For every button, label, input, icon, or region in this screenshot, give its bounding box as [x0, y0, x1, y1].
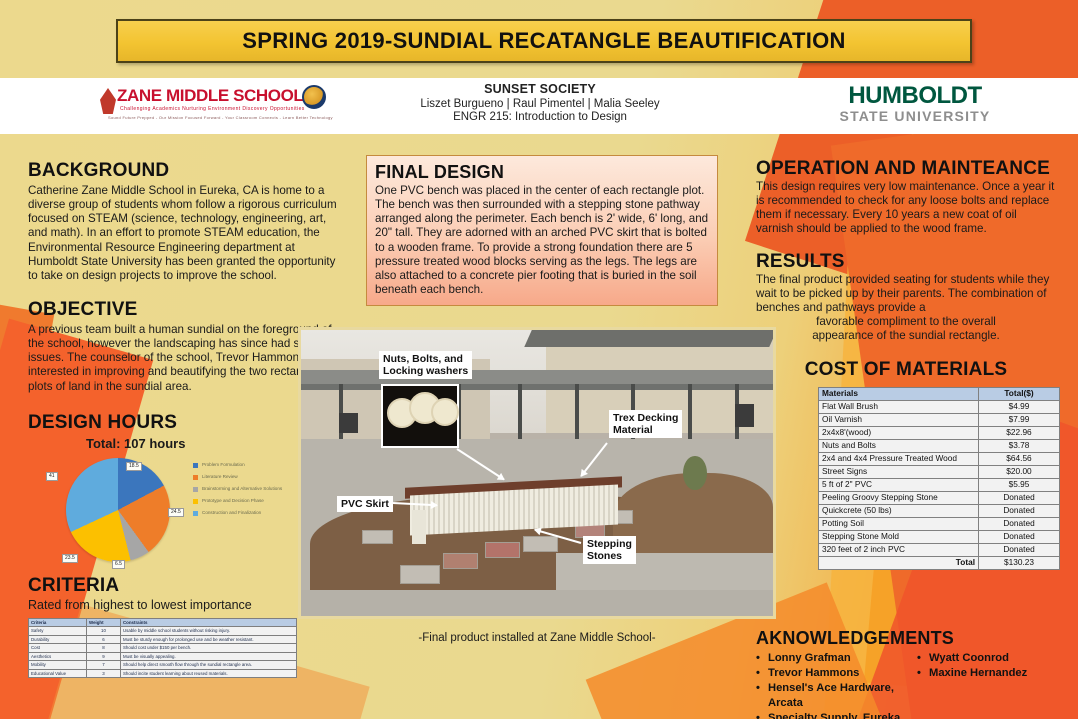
photo-trash-can-left	[339, 413, 358, 433]
table-total-row: Total$130.23	[819, 556, 1060, 569]
acknowledgements-column-1: •Lonny Grafman•Trevor Hammons•Hensel's A…	[756, 651, 917, 719]
criteria-weight: 3	[87, 669, 121, 678]
material-name: 2x4 and 4x4 Pressure Treated Wood	[819, 453, 979, 466]
course-name: ENGR 215: Introduction to Design	[380, 111, 700, 123]
criteria-name: Mobility	[29, 661, 87, 670]
legend-swatch	[193, 487, 198, 492]
bullet-icon: •	[756, 711, 768, 719]
table-row: Mobility7Should help direct smooth flow …	[29, 661, 297, 670]
legend-swatch	[193, 475, 198, 480]
table-row: Educational Value3Should incite student …	[29, 669, 297, 678]
table-row: Stepping Stone MoldDonated	[819, 530, 1060, 543]
pie-label-0: 18.5	[126, 462, 142, 471]
acknowledgements-section: AKNOWLEDGEMENTS •Lonny Grafman•Trevor Ha…	[756, 628, 1078, 719]
material-cost: $4.99	[979, 401, 1060, 414]
material-name: Oil Varnish	[819, 414, 979, 427]
criteria-name: Educational Value	[29, 669, 87, 678]
criteria-weight: 6	[87, 635, 121, 644]
table-row: Peeling Groovy Stepping StoneDonated	[819, 491, 1060, 504]
legend-label-3: Prototype and Decision Phase	[202, 498, 264, 504]
final-design-panel: FINAL DESIGN One PVC bench was placed in…	[366, 155, 718, 306]
material-cost: $20.00	[979, 465, 1060, 478]
criteria-name: Durability	[29, 635, 87, 644]
final-design-text: One PVC bench was placed in the center o…	[375, 184, 709, 297]
background-text: Catherine Zane Middle School in Eureka, …	[28, 184, 346, 283]
table-header-row: Criteria Weight Constraints	[29, 618, 297, 627]
photo-bench-leg	[412, 510, 426, 544]
callout-trex-decking: Trex Decking Material	[609, 410, 682, 438]
acknowledgements-heading: AKNOWLEDGEMENTS	[756, 628, 1078, 649]
criteria-name: Safety	[29, 627, 87, 636]
pie-label-4: 41	[46, 472, 58, 481]
material-cost: Donated	[979, 530, 1060, 543]
bullet-icon: •	[756, 666, 768, 681]
criteria-name: Aesthetics	[29, 652, 87, 661]
school-logo-name: ZANE MIDDLE SCHOOL	[117, 86, 303, 106]
pie-label-3: 23.5	[62, 554, 78, 563]
legend-label-4: Construction and Finalization	[202, 510, 261, 516]
photo-awning	[301, 370, 773, 384]
results-text: The final product provided seating for s…	[756, 273, 1056, 344]
list-item: •Maxine Hernandez	[917, 666, 1078, 681]
humboldt-state-logo: HUMBOLDT STATE UNIVERSITY	[815, 82, 1015, 124]
callout-pvc-skirt: PVC Skirt	[337, 496, 393, 512]
criteria-col-criteria: Criteria	[29, 618, 87, 627]
callout-nuts-bolts: Nuts, Bolts, and Locking washers	[379, 351, 472, 379]
bullet-icon: •	[917, 651, 929, 666]
legend-swatch	[193, 511, 198, 516]
acknowledgement-name: Wyatt Coonrod	[929, 651, 1009, 666]
legend-swatch	[193, 463, 198, 468]
zane-middle-school-logo: ZANE MIDDLE SCHOOL Challenging Academics…	[100, 84, 326, 128]
photo-roof	[524, 330, 776, 347]
table-row: Potting SoilDonated	[819, 517, 1060, 530]
material-name: Flat Wall Brush	[819, 401, 979, 414]
title-band: SPRING 2019-SUNDIAL RECATANGLE BEAUTIFIC…	[0, 0, 1078, 72]
photo-awning-shadow	[301, 384, 773, 390]
table-row: Aesthetics9Must be visually appealing.	[29, 652, 297, 661]
university-name-line1: HUMBOLDT	[815, 82, 1015, 110]
table-row: Street Signs$20.00	[819, 465, 1060, 478]
project-photo: Nuts, Bolts, and Locking washers Trex De…	[298, 327, 776, 619]
acknowledgement-name: Trevor Hammons	[768, 666, 859, 681]
poster-title: SPRING 2019-SUNDIAL RECATANGLE BEAUTIFIC…	[242, 28, 845, 54]
photo-caption: -Final product installed at Zane Middle …	[298, 632, 776, 644]
material-name: Quickcrete (50 lbs)	[819, 504, 979, 517]
table-row: Nuts and Bolts$3.78	[819, 440, 1060, 453]
legend-label-0: Problem Formulation	[202, 462, 245, 468]
cost-of-materials-table: Materials Total($) Flat Wall Brush$4.99O…	[818, 387, 1060, 569]
table-row: Cost8Should cost under $150 per bench.	[29, 644, 297, 653]
operation-heading: OPERATION AND MAINTEANCE	[756, 158, 1056, 180]
objective-heading: OBJECTIVE	[28, 299, 346, 321]
table-row: 2x4x8'(wood)$22.96	[819, 427, 1060, 440]
criteria-constraint: Should cost under $150 per bench.	[121, 644, 297, 653]
legend-swatch	[193, 499, 198, 504]
material-cost: Donated	[979, 504, 1060, 517]
criteria-name: Cost	[29, 644, 87, 653]
school-seal-icon	[302, 85, 326, 109]
pvc-pipe-inset-photo	[381, 384, 459, 448]
criteria-weight: 8	[87, 644, 121, 653]
criteria-constraint: Must be visually appealing.	[121, 652, 297, 661]
material-cost: $7.99	[979, 414, 1060, 427]
criteria-constraint: Should incite student learning about reu…	[121, 669, 297, 678]
criteria-col-constraints: Constraints	[121, 618, 297, 627]
criteria-constraint: Must be sturdy enough for prolonged use …	[121, 635, 297, 644]
material-name: 320 feet of 2 inch PVC	[819, 543, 979, 556]
list-item: •Lonny Grafman	[756, 651, 917, 666]
criteria-constraint: Usable by middle school students without…	[121, 627, 297, 636]
criteria-weight: 10	[87, 627, 121, 636]
material-name: Stepping Stone Mold	[819, 530, 979, 543]
table-row: Safety10Usable by middle school students…	[29, 627, 297, 636]
legend-label-2: Brainstorming and Alternative Solutions	[202, 486, 282, 492]
cost-total-value: $130.23	[979, 556, 1060, 569]
acknowledgement-name: Lonny Grafman	[768, 651, 851, 666]
poster-title-box: SPRING 2019-SUNDIAL RECATANGLE BEAUTIFIC…	[116, 19, 972, 63]
photo-walkway-front	[301, 590, 773, 616]
bullet-icon: •	[756, 681, 768, 711]
list-item: •Wyatt Coonrod	[917, 651, 1078, 666]
material-name: Peeling Groovy Stepping Stone	[819, 491, 979, 504]
pie-label-2: 6.5	[112, 560, 125, 569]
results-text-line1: The final product provided seating for s…	[756, 273, 1056, 315]
material-name: Potting Soil	[819, 517, 979, 530]
material-cost: Donated	[979, 543, 1060, 556]
callout-stepping-stones: Stepping Stones	[583, 536, 636, 564]
list-item: •Hensel's Ace Hardware, Arcata	[756, 681, 917, 711]
criteria-table: Criteria Weight Constraints Safety10Usab…	[28, 618, 297, 679]
results-text-line2: favorable compliment to the overall	[756, 315, 1056, 329]
university-name-line2: STATE UNIVERSITY	[815, 108, 1015, 124]
final-design-heading: FINAL DESIGN	[375, 162, 709, 183]
operation-text: This design requires very low maintenanc…	[756, 180, 1056, 237]
list-item: •Trevor Hammons	[756, 666, 917, 681]
material-name: 2x4x8'(wood)	[819, 427, 979, 440]
flame-icon	[100, 88, 116, 114]
photo-shrub	[683, 456, 707, 490]
table-row: Durability6Must be sturdy enough for pro…	[29, 635, 297, 644]
table-row: 5 ft of 2" PVC$5.95	[819, 478, 1060, 491]
bullet-icon: •	[917, 666, 929, 681]
material-cost: Donated	[979, 517, 1060, 530]
team-credit: SUNSET SOCIETY Liszet Burgueno | Raul Pi…	[380, 82, 700, 123]
material-name: Nuts and Bolts	[819, 440, 979, 453]
acknowledgement-name: Hensel's Ace Hardware, Arcata	[768, 681, 917, 711]
table-header-row: Materials Total($)	[819, 388, 1060, 401]
table-row: Flat Wall Brush$4.99	[819, 401, 1060, 414]
results-heading: RESULTS	[756, 251, 1056, 273]
criteria-col-weight: Weight	[87, 618, 121, 627]
school-tagline: Challenging Academics Nurturing Environm…	[120, 106, 305, 112]
table-row: 2x4 and 4x4 Pressure Treated Wood$64.56	[819, 453, 1060, 466]
table-row: Quickcrete (50 lbs)Donated	[819, 504, 1060, 517]
acknowledgement-name: Specialty Supply, Eureka	[768, 711, 900, 719]
material-cost: Donated	[979, 491, 1060, 504]
pie-chart-total-label: Total: 107 hours	[86, 436, 185, 451]
acknowledgement-name: Maxine Hernandez	[929, 666, 1027, 681]
material-cost: $5.95	[979, 478, 1060, 491]
results-text-line3: appearance of the sundial rectangle.	[756, 329, 1056, 343]
design-hours-pie-chart: Total: 107 hours 18.5 24.5 6.5 23.5 41 P…	[28, 436, 328, 571]
acknowledgements-column-2: •Wyatt Coonrod•Maxine Hernandez	[917, 651, 1078, 719]
team-name: SUNSET SOCIETY	[380, 82, 700, 96]
bullet-icon: •	[756, 651, 768, 666]
criteria-constraint: Should help direct smooth flow through t…	[121, 661, 297, 670]
pie-label-1: 24.5	[168, 508, 184, 517]
cost-col-materials: Materials	[819, 388, 979, 401]
photo-trash-can-right	[735, 404, 754, 427]
cost-of-materials-heading: COST OF MATERIALS	[756, 359, 1056, 381]
cost-col-total: Total($)	[979, 388, 1060, 401]
material-name: Street Signs	[819, 465, 979, 478]
legend-label-1: Literature Review	[202, 474, 238, 480]
material-cost: $64.56	[979, 453, 1060, 466]
school-subtagline: Sound Future Prepped - Our Mission Focus…	[108, 115, 333, 120]
criteria-weight: 7	[87, 661, 121, 670]
pie-chart-graphic	[66, 458, 170, 562]
right-column: OPERATION AND MAINTEANCE This design req…	[756, 158, 1056, 570]
cost-total-label: Total	[819, 556, 979, 569]
material-cost: $22.96	[979, 427, 1060, 440]
list-item: •Specialty Supply, Eureka	[756, 711, 917, 719]
team-members: Liszet Burgueno | Raul Pimentel | Malia …	[380, 98, 700, 110]
material-name: 5 ft of 2" PVC	[819, 478, 979, 491]
poster-canvas: SPRING 2019-SUNDIAL RECATANGLE BEAUTIFIC…	[0, 0, 1078, 719]
background-heading: BACKGROUND	[28, 160, 346, 182]
material-cost: $3.78	[979, 440, 1060, 453]
table-row: 320 feet of 2 inch PVCDonated	[819, 543, 1060, 556]
table-row: Oil Varnish$7.99	[819, 414, 1060, 427]
criteria-weight: 9	[87, 652, 121, 661]
